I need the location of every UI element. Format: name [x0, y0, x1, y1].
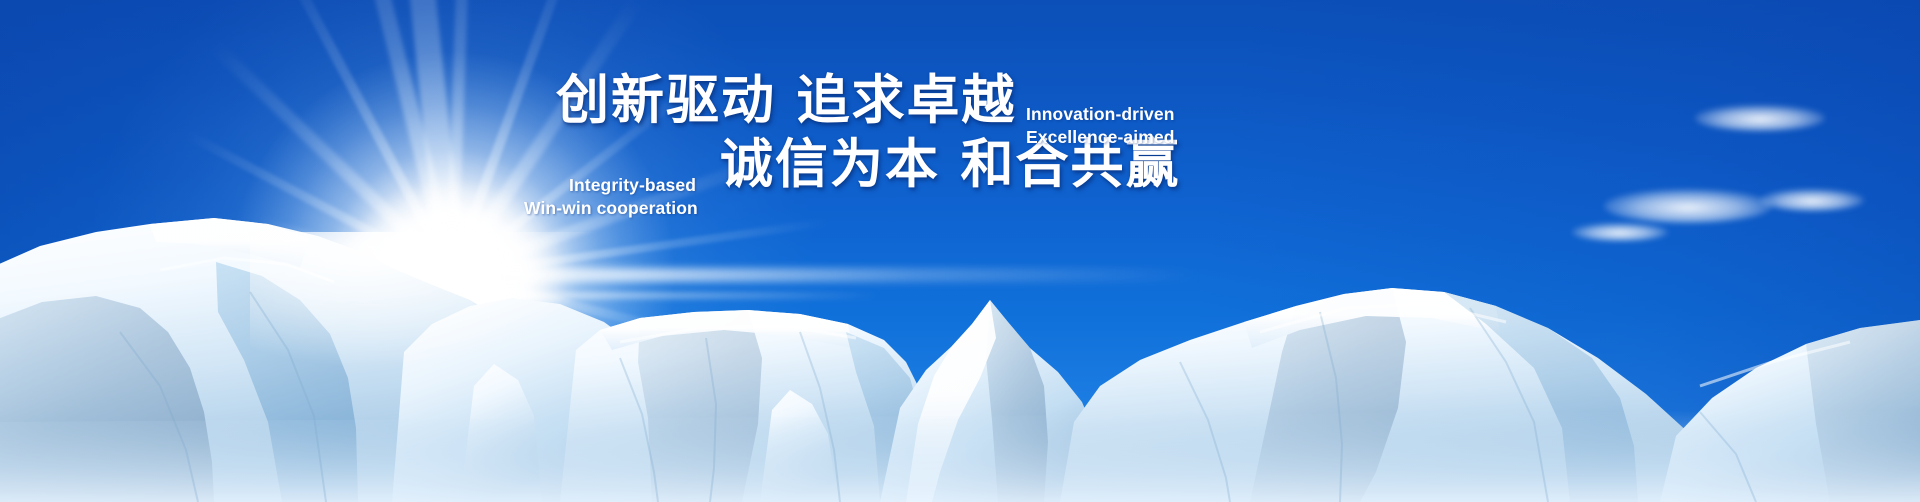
mountain-range [0, 172, 1920, 502]
hero-banner: 创新驱动 追求卓越 诚信为本 和合共赢 Innovation-driven Ex… [0, 0, 1920, 502]
cloud [1695, 105, 1825, 131]
mountain-silhouette-svg [0, 172, 1920, 502]
lower-slopes [0, 410, 1920, 502]
